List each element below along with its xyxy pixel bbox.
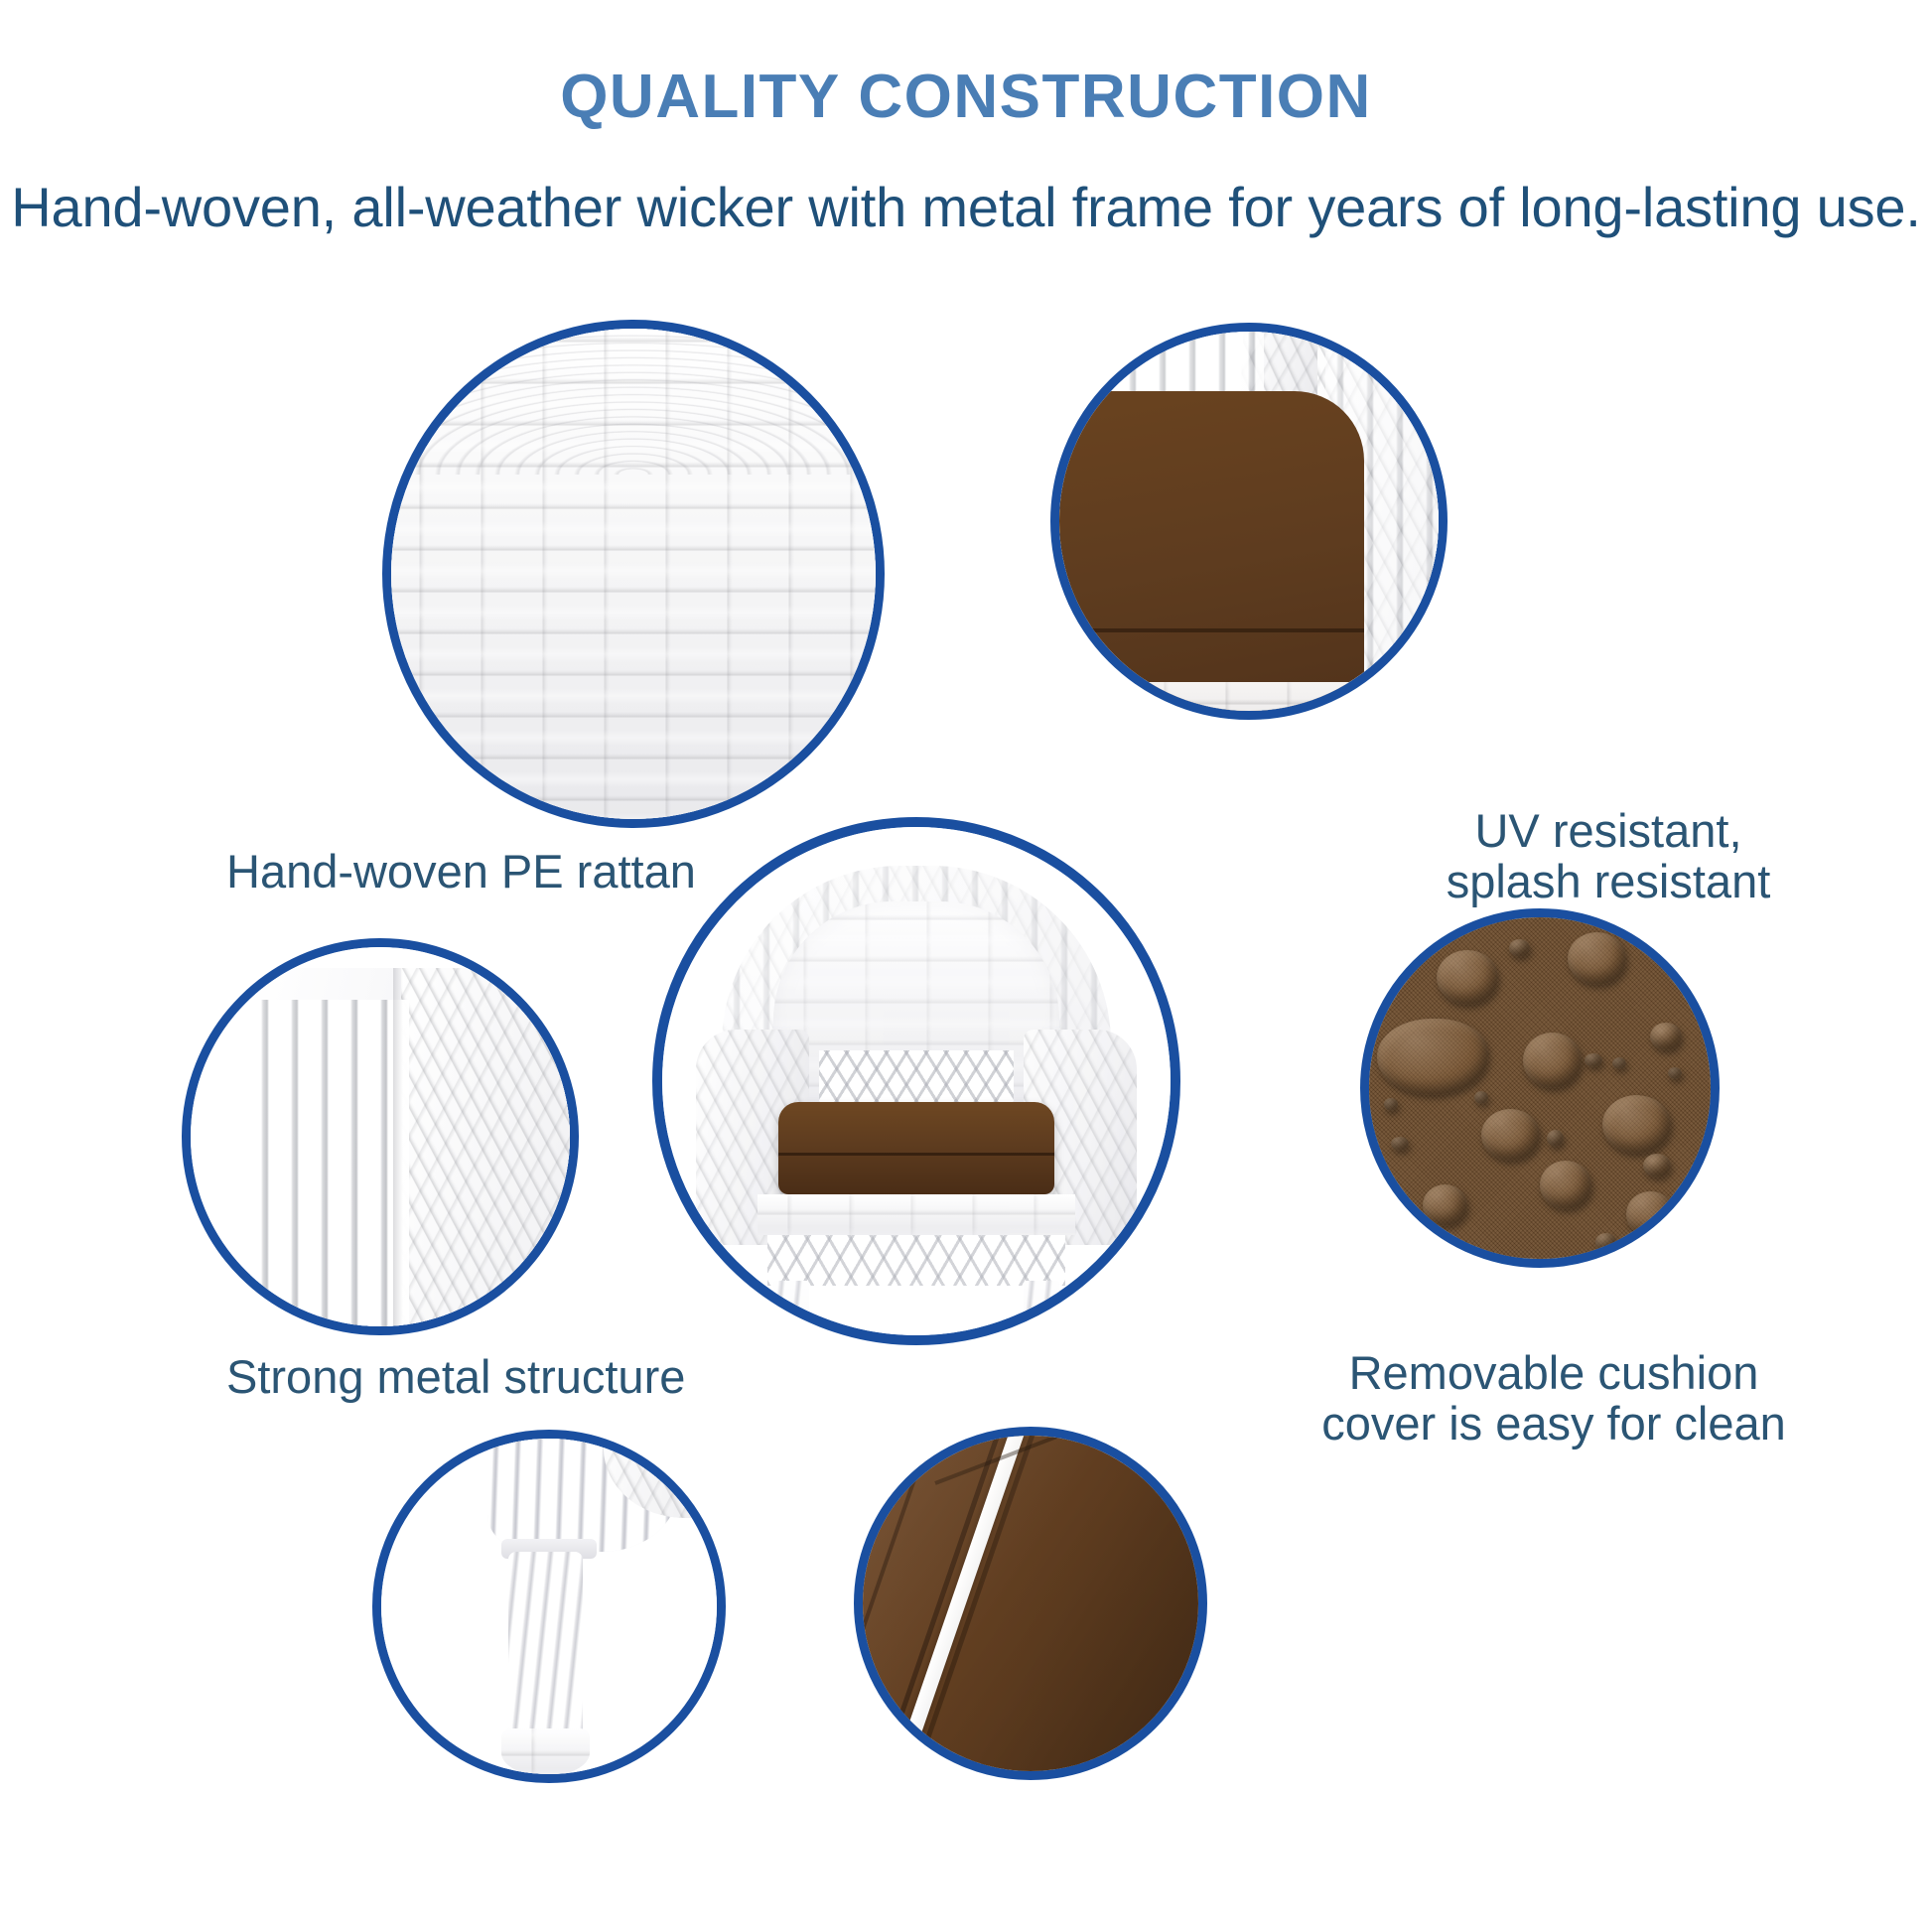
feature-image-hand-woven-pe-rattan (382, 320, 885, 828)
feature-image-removable-cushion-cover (854, 1427, 1207, 1780)
wicker-armrest-corner (189, 945, 572, 1328)
water-droplet (1585, 1053, 1601, 1067)
feature-caption-strong-metal-structure: Strong metal structure (226, 1352, 782, 1403)
feature-image-uv-splash-resistant (1050, 323, 1448, 720)
water-droplet (1602, 1095, 1672, 1154)
water-droplet (1540, 1161, 1591, 1209)
wicker-chair-leg (379, 1437, 719, 1776)
water-droplet (1626, 1191, 1675, 1236)
water-droplet (1595, 1233, 1616, 1250)
water-droplet (1612, 1057, 1626, 1069)
water-droplet (1509, 939, 1530, 956)
feature-caption-removable-cushion-cover: Removable cushion cover is easy for clea… (1320, 1348, 1787, 1449)
water-droplet (1523, 1033, 1582, 1088)
water-droplet (1423, 1184, 1467, 1226)
cushion-in-wicker-corner (1057, 330, 1441, 713)
water-droplet (1391, 1137, 1408, 1151)
feature-image-water-beading (1360, 908, 1720, 1268)
water-droplet (1668, 1067, 1682, 1079)
water-droplet (1568, 932, 1626, 984)
wicker-basket-weave-texture (389, 327, 878, 821)
product-image-wicker-chair (652, 817, 1180, 1345)
wicker-armchair (660, 825, 1173, 1337)
water-droplet (1481, 1109, 1540, 1161)
water-droplet (1377, 1019, 1487, 1095)
water-droplet (1650, 1023, 1681, 1050)
feature-image-chair-leg-detail (372, 1430, 726, 1783)
water-droplet (1474, 1091, 1488, 1103)
page-subtitle: Hand-woven, all-weather wicker with meta… (0, 175, 1932, 239)
cushion-cover-zipper (861, 1434, 1200, 1773)
feature-caption-uv-splash-resistant: UV resistant, splash resistant (1390, 806, 1827, 907)
page-title: QUALITY CONSTRUCTION (0, 62, 1932, 132)
infographic-canvas: QUALITY CONSTRUCTION Hand-woven, all-wea… (0, 0, 1932, 1932)
water-droplet (1384, 1098, 1398, 1110)
feature-image-strong-metal-structure (182, 938, 579, 1335)
water-droplets-on-fabric (1367, 915, 1713, 1261)
